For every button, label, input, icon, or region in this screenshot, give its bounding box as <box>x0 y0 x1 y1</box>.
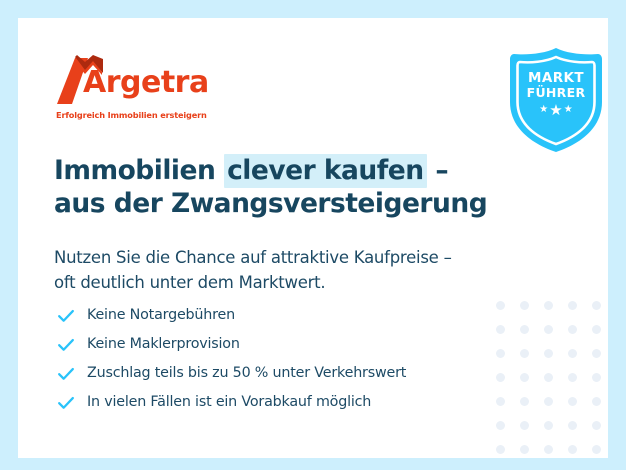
decorative-dot <box>592 325 601 334</box>
decorative-dot <box>592 301 601 310</box>
page-headline: Immobilien clever kaufen – aus der Zwang… <box>54 154 524 221</box>
decorative-dot <box>544 325 553 334</box>
decorative-dot <box>568 349 577 358</box>
decorative-dot <box>568 325 577 334</box>
decorative-dot <box>544 349 553 358</box>
headline-line-1: Immobilien clever kaufen – <box>54 154 448 188</box>
headline-prefix: Immobilien <box>54 155 224 186</box>
decorative-dot <box>592 349 601 358</box>
list-item-label: In vielen Fällen ist ein Vorabkauf mögli… <box>87 395 371 409</box>
decorative-dot <box>520 421 529 430</box>
subheadline-line-2: oft deutlich unter dem Marktwert. <box>54 273 325 292</box>
page-frame: Argetra Erfolgreich Immobilien ersteiger… <box>0 0 626 470</box>
decorative-dot <box>496 421 505 430</box>
list-item: Keine Maklerprovision <box>55 330 535 359</box>
decorative-dot <box>568 397 577 406</box>
content-card: Argetra Erfolgreich Immobilien ersteiger… <box>18 18 608 458</box>
decorative-dot <box>568 445 577 454</box>
logo-wordmark: Argetra <box>83 68 209 98</box>
decorative-dot <box>544 397 553 406</box>
list-item: In vielen Fällen ist ein Vorabkauf mögli… <box>55 388 535 417</box>
page-subheadline: Nutzen Sie die Chance auf attraktive Kau… <box>54 245 524 295</box>
headline-line-2: aus der Zwangsversteigerung <box>54 188 487 219</box>
check-icon <box>55 305 77 327</box>
list-item-label: Keine Notargebühren <box>87 308 235 322</box>
decorative-dot <box>568 421 577 430</box>
decorative-dot <box>592 445 601 454</box>
check-icon <box>55 363 77 385</box>
headline-highlight: clever kaufen <box>224 154 427 188</box>
shield-icon <box>504 46 608 154</box>
logo-tagline: Erfolgreich Immobilien ersteigern <box>56 110 207 120</box>
decorative-dot <box>544 373 553 382</box>
check-icon <box>55 334 77 356</box>
list-item: Zuschlag teils bis zu 50 % unter Verkehr… <box>55 359 535 388</box>
decorative-dot <box>496 445 505 454</box>
headline-suffix: – <box>427 155 448 186</box>
decorative-dot <box>568 301 577 310</box>
list-item-label: Keine Maklerprovision <box>87 337 240 351</box>
decorative-dot <box>544 301 553 310</box>
list-item: Keine Notargebühren <box>55 301 535 330</box>
decorative-dot <box>544 421 553 430</box>
decorative-dot <box>592 421 601 430</box>
check-icon <box>55 392 77 414</box>
argetra-logo[interactable]: Argetra Erfolgreich Immobilien ersteiger… <box>55 44 235 122</box>
list-item-label: Zuschlag teils bis zu 50 % unter Verkehr… <box>87 366 406 380</box>
decorative-dot <box>544 445 553 454</box>
subheadline-line-1: Nutzen Sie die Chance auf attraktive Kau… <box>54 248 452 267</box>
decorative-dot <box>592 373 601 382</box>
decorative-dot <box>568 373 577 382</box>
benefits-checklist: Keine Notargebühren Keine Maklerprovisio… <box>55 301 535 417</box>
marktfuehrer-badge: MARKT FÜHRER ★ ★ ★ <box>504 46 608 154</box>
decorative-dot <box>520 445 529 454</box>
decorative-dot <box>592 397 601 406</box>
